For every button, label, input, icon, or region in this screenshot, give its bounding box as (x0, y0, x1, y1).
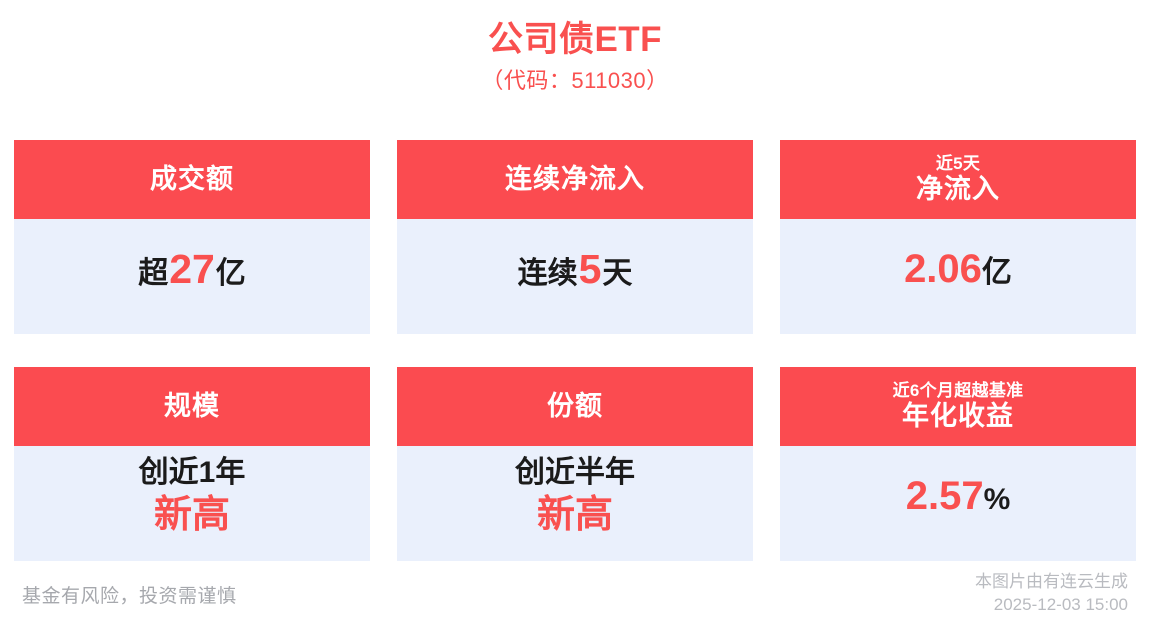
metric-card-header: 成交额 (14, 140, 370, 219)
metric-value-line: 2.06亿 (904, 246, 1012, 293)
metric-card-grid: 成交额超27亿连续净流入连续5天近5天净流入2.06亿规模创近1年新高份额创近半… (14, 140, 1136, 561)
metric-card-title: 规模 (164, 390, 220, 422)
metric-card-body: 连续5天 (397, 219, 753, 334)
metric-value-line: 2.57% (906, 473, 1011, 520)
metric-card-body: 超27亿 (14, 219, 370, 334)
metric-card-header: 份额 (397, 367, 753, 446)
page-header: 公司债ETF （代码：511030） (0, 0, 1150, 97)
metric-card-header: 近5天净流入 (780, 140, 1136, 219)
metric-card-title: 年化收益 (902, 400, 1014, 432)
metric-card-title: 成交额 (150, 163, 234, 195)
metric-value-segment: 创近1年 (139, 455, 246, 490)
metric-value-line: 超27亿 (138, 245, 246, 293)
metric-value-segment: 超 (138, 256, 168, 291)
metric-card-body: 创近半年新高 (397, 446, 753, 561)
metric-card-header: 规模 (14, 367, 370, 446)
metric-value-line: 创近半年 (515, 455, 635, 490)
risk-disclaimer: 基金有风险，投资需谨慎 (22, 581, 237, 608)
metric-card-body: 2.57% (780, 446, 1136, 561)
generation-timestamp: 2025-12-03 15:00 (975, 594, 1128, 617)
metric-value-segment: 27 (168, 245, 216, 293)
metric-value-segment: 新高 (537, 493, 613, 538)
metric-value-segment: 2.57 (906, 473, 984, 520)
generation-info: 本图片由有连云生成 2025-12-03 15:00 (975, 571, 1128, 617)
metric-card-header: 连续净流入 (397, 140, 753, 219)
metric-card-header: 近6个月超越基准年化收益 (780, 367, 1136, 446)
fund-code-subtitle: （代码：511030） (0, 66, 1150, 97)
metric-value-segment: 5 (578, 245, 603, 293)
metric-value-line: 新高 (537, 493, 613, 538)
metric-value-segment: % (984, 482, 1011, 517)
metric-value-segment: 亿 (216, 256, 246, 291)
page-title: 公司债ETF (0, 18, 1150, 62)
metric-card: 近6个月超越基准年化收益2.57% (780, 367, 1136, 561)
metric-card: 成交额超27亿 (14, 140, 370, 334)
metric-card-title: 份额 (547, 390, 603, 422)
metric-card-eyebrow: 近5天 (936, 154, 980, 174)
metric-card: 规模创近1年新高 (14, 367, 370, 561)
metric-value-line: 新高 (154, 493, 230, 538)
metric-card: 连续净流入连续5天 (397, 140, 753, 334)
metric-value-segment: 连续 (518, 256, 578, 291)
metric-value-line: 连续5天 (518, 245, 633, 293)
metric-card: 近5天净流入2.06亿 (780, 140, 1136, 334)
metric-card-body: 2.06亿 (780, 219, 1136, 334)
metric-value-segment: 2.06 (904, 246, 982, 293)
metric-card: 份额创近半年新高 (397, 367, 753, 561)
metric-value-segment: 亿 (982, 255, 1012, 290)
footer: 基金有风险，投资需谨慎 本图片由有连云生成 2025-12-03 15:00 (0, 568, 1150, 632)
metric-card-title: 净流入 (916, 173, 1000, 205)
metric-value-segment: 创近半年 (515, 455, 635, 490)
metric-card-title: 连续净流入 (505, 163, 645, 195)
generation-source: 本图片由有连云生成 (975, 571, 1128, 594)
metric-card-body: 创近1年新高 (14, 446, 370, 561)
metric-value-segment: 新高 (154, 493, 230, 538)
metric-card-eyebrow: 近6个月超越基准 (893, 381, 1024, 401)
metric-value-segment: 天 (602, 256, 632, 291)
metric-value-line: 创近1年 (139, 455, 246, 490)
